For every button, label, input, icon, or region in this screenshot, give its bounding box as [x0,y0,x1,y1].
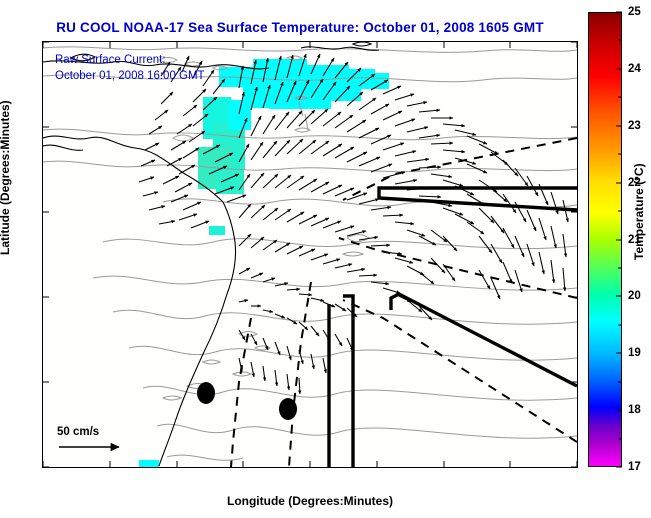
colorbar-tick-label: 25 [628,6,641,18]
colorbar-tick-label: 17 [628,461,641,473]
colorbar-tick-label: 24 [628,63,641,75]
x-axis-title: Longitude (Degrees:Minutes) [42,494,578,508]
figure-canvas: RU COOL NOAA-17 Sea Surface Temperature:… [0,0,651,518]
colorbar: 25 24 23 22 21 20 19 18 17 [588,12,622,467]
colorbar-tick-label: 19 [628,347,641,359]
plot-area: Raw Surface Current: October 01, 2008 16… [42,41,578,468]
map-graphics [43,42,577,467]
shipping-lanes [329,188,577,467]
station-markers [197,382,297,420]
colorbar-tick-label: 23 [628,120,641,132]
arrow-right-icon [57,441,131,453]
y-axis-title: Latitude (Degrees:Minutes) [0,100,12,255]
page-title: RU COOL NOAA-17 Sea Surface Temperature:… [0,20,600,35]
colorbar-tick-label: 18 [628,404,641,416]
scale-legend: 50 cm/s [57,426,167,453]
colorbar-tick-label: 20 [628,290,641,302]
colorbar-title: Temperature (°C) [632,163,646,260]
scale-legend-label: 50 cm/s [57,426,167,438]
